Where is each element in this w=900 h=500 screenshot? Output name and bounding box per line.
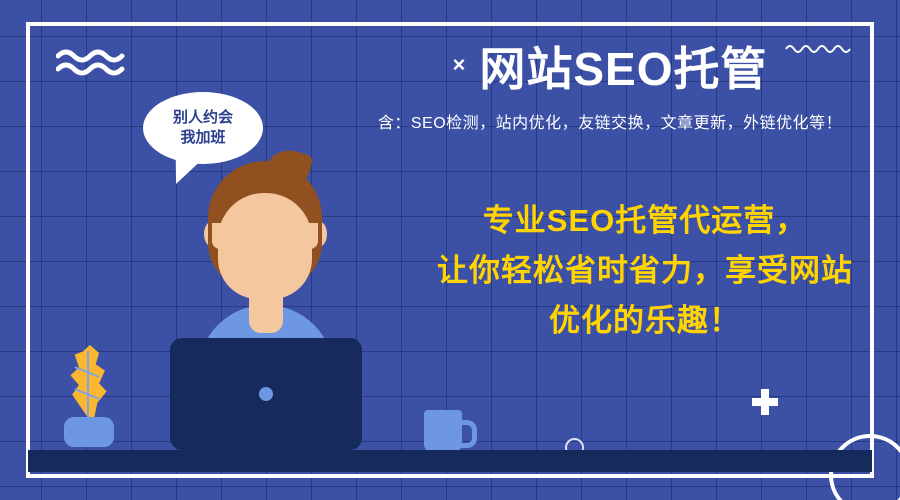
- slogan-line-2: 让你轻松省时省力，享受网站: [400, 246, 890, 296]
- headline-block: × 网站SEO托管 含：SEO检测，站内优化，友链交换，文章更新，外链优化等！: [330, 44, 890, 133]
- title-row: × 网站SEO托管: [330, 44, 890, 95]
- potted-plant-icon: [56, 345, 120, 451]
- page-title: 网站SEO托管: [479, 44, 767, 95]
- seo-hosting-banner: × 网站SEO托管 含：SEO检测，站内优化，友链交换，文章更新，外链优化等！ …: [0, 0, 900, 500]
- desk-surface: [28, 450, 872, 472]
- speech-bubble-line-2: 我加班: [180, 128, 225, 148]
- slogan-block: 专业SEO托管代运营， 让你轻松省时省力，享受网站 优化的乐趣！: [400, 196, 890, 347]
- speech-bubble-line-1: 别人约会: [173, 108, 233, 128]
- speech-bubble: 别人约会 我加班: [143, 92, 263, 164]
- plus-icon: [752, 389, 778, 415]
- slogan-line-1: 专业SEO托管代运营，: [400, 196, 890, 246]
- laptop-logo-dot: [259, 387, 273, 401]
- coffee-mug-icon: [424, 410, 474, 452]
- plant-leaf-vein: [87, 351, 89, 423]
- mug-handle: [456, 420, 477, 448]
- x-mark-icon: ×: [452, 54, 465, 84]
- laptop-icon: [170, 338, 362, 450]
- subtitle: 含：SEO检测，站内优化，友链交换，文章更新，外链优化等！: [330, 109, 890, 133]
- wave-lines-icon: [56, 48, 136, 76]
- slogan-line-3: 优化的乐趣！: [400, 296, 890, 346]
- plant-leaf: [68, 345, 110, 425]
- plant-pot: [64, 417, 114, 447]
- mouth: [244, 265, 288, 278]
